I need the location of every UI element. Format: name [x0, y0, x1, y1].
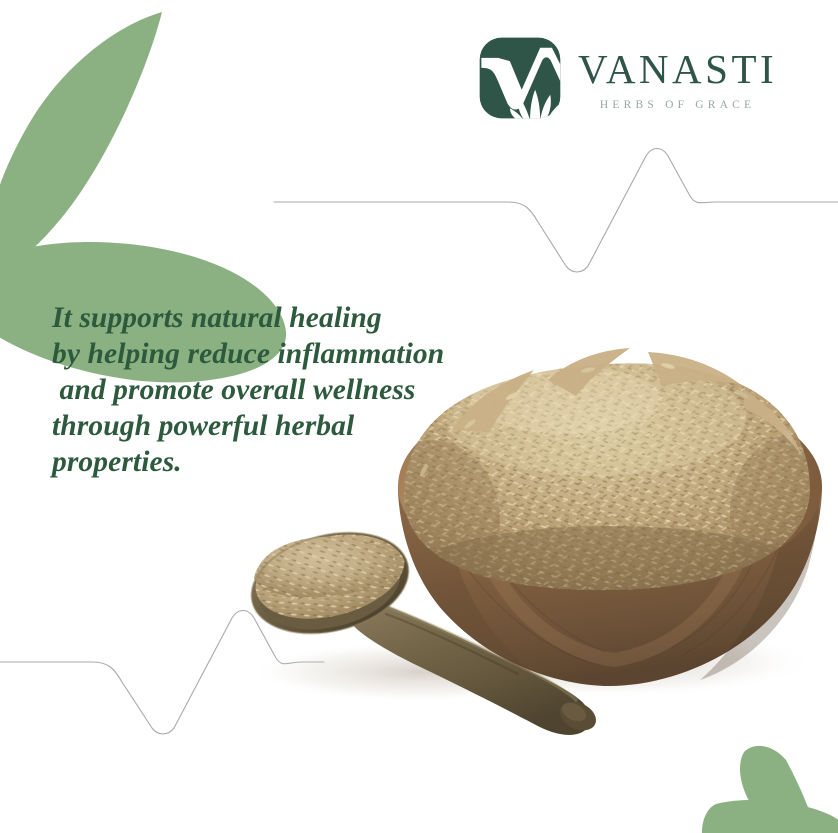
wooden-spoon	[241, 515, 601, 736]
headline-line-1: It supports natural healing	[52, 300, 482, 336]
leaf-bottom-right-upper-icon	[740, 746, 820, 833]
spoon-handle	[352, 600, 590, 735]
leaf-bottom-right-lower-icon	[702, 800, 838, 833]
brand-name: VANASTI	[578, 49, 777, 90]
headline-line-5: properties.	[52, 444, 482, 480]
poster-canvas: VANASTI HERBS OF GRACE It supports natur…	[0, 0, 838, 833]
heartbeat-line-top	[274, 149, 838, 273]
spoon-seeds	[246, 515, 414, 633]
bowl-body	[398, 486, 822, 686]
headline-line-3: and promote overall wellness	[52, 372, 482, 408]
heartbeat-line-bottom	[0, 611, 324, 735]
bowl-shadow	[385, 626, 815, 698]
headline-text: It supports natural healing by helping r…	[52, 300, 482, 480]
seed-crest	[452, 348, 802, 456]
headline-line-4: through powerful herbal	[52, 408, 482, 444]
spoon-bowl	[241, 517, 419, 649]
headline-line-2: by helping reduce inflammation	[52, 336, 482, 372]
vanasti-monogram-icon	[478, 36, 562, 120]
brand-logo: VANASTI HERBS OF GRACE	[478, 36, 777, 120]
spoon-shadow	[250, 642, 590, 702]
spoon-handle-tip	[555, 696, 601, 736]
leaf-top-left-upper-icon	[0, 12, 162, 284]
brand-tagline: HERBS OF GRACE	[600, 99, 755, 111]
brand-lockup-text: VANASTI HERBS OF GRACE	[578, 45, 777, 111]
